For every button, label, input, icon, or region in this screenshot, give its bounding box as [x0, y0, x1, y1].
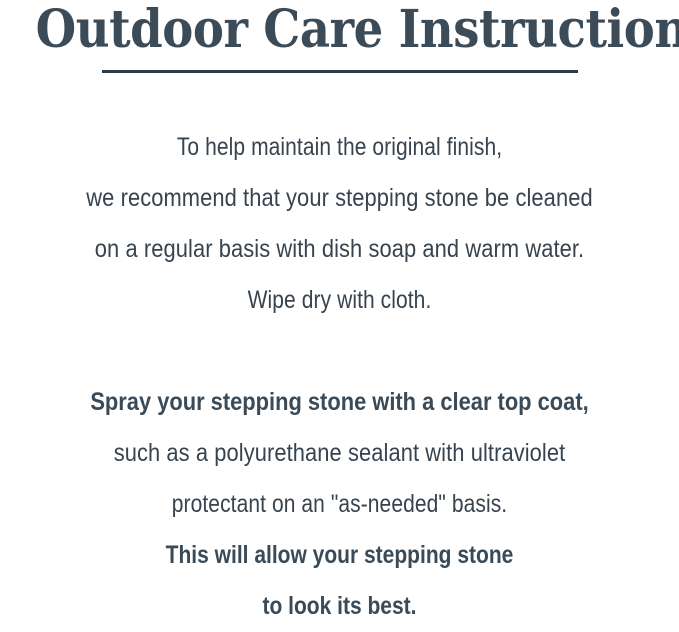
paragraph-line: such as a polyurethane sealant with ultr… [42, 428, 636, 479]
paragraph-line-bold: to look its best. [54, 581, 624, 632]
sealant-paragraph: Spray your stepping stone with a clear t… [0, 377, 679, 632]
maintenance-paragraph: To help maintain the original finish, we… [0, 122, 679, 326]
paragraph-line-bold: This will allow your stepping stone [54, 530, 624, 581]
care-instructions-page: Outdoor Care Instructions To help mainta… [0, 0, 679, 613]
paragraph-line: Wipe dry with cloth. [54, 275, 624, 326]
title-block: Outdoor Care Instructions [0, 0, 679, 58]
page-title: Outdoor Care Instructions [36, 0, 644, 58]
body-copy: To help maintain the original finish, we… [0, 122, 679, 632]
title-divider [102, 70, 578, 73]
paragraph-line: on a regular basis with dish soap and wa… [42, 224, 636, 275]
paragraph-line-bold: Spray your stepping stone with a clear t… [42, 377, 636, 428]
paragraph-line: we recommend that your stepping stone be… [42, 173, 636, 224]
paragraph-line: To help maintain the original finish, [54, 122, 624, 173]
paragraph-line: protectant on an "as-needed" basis. [54, 479, 624, 530]
